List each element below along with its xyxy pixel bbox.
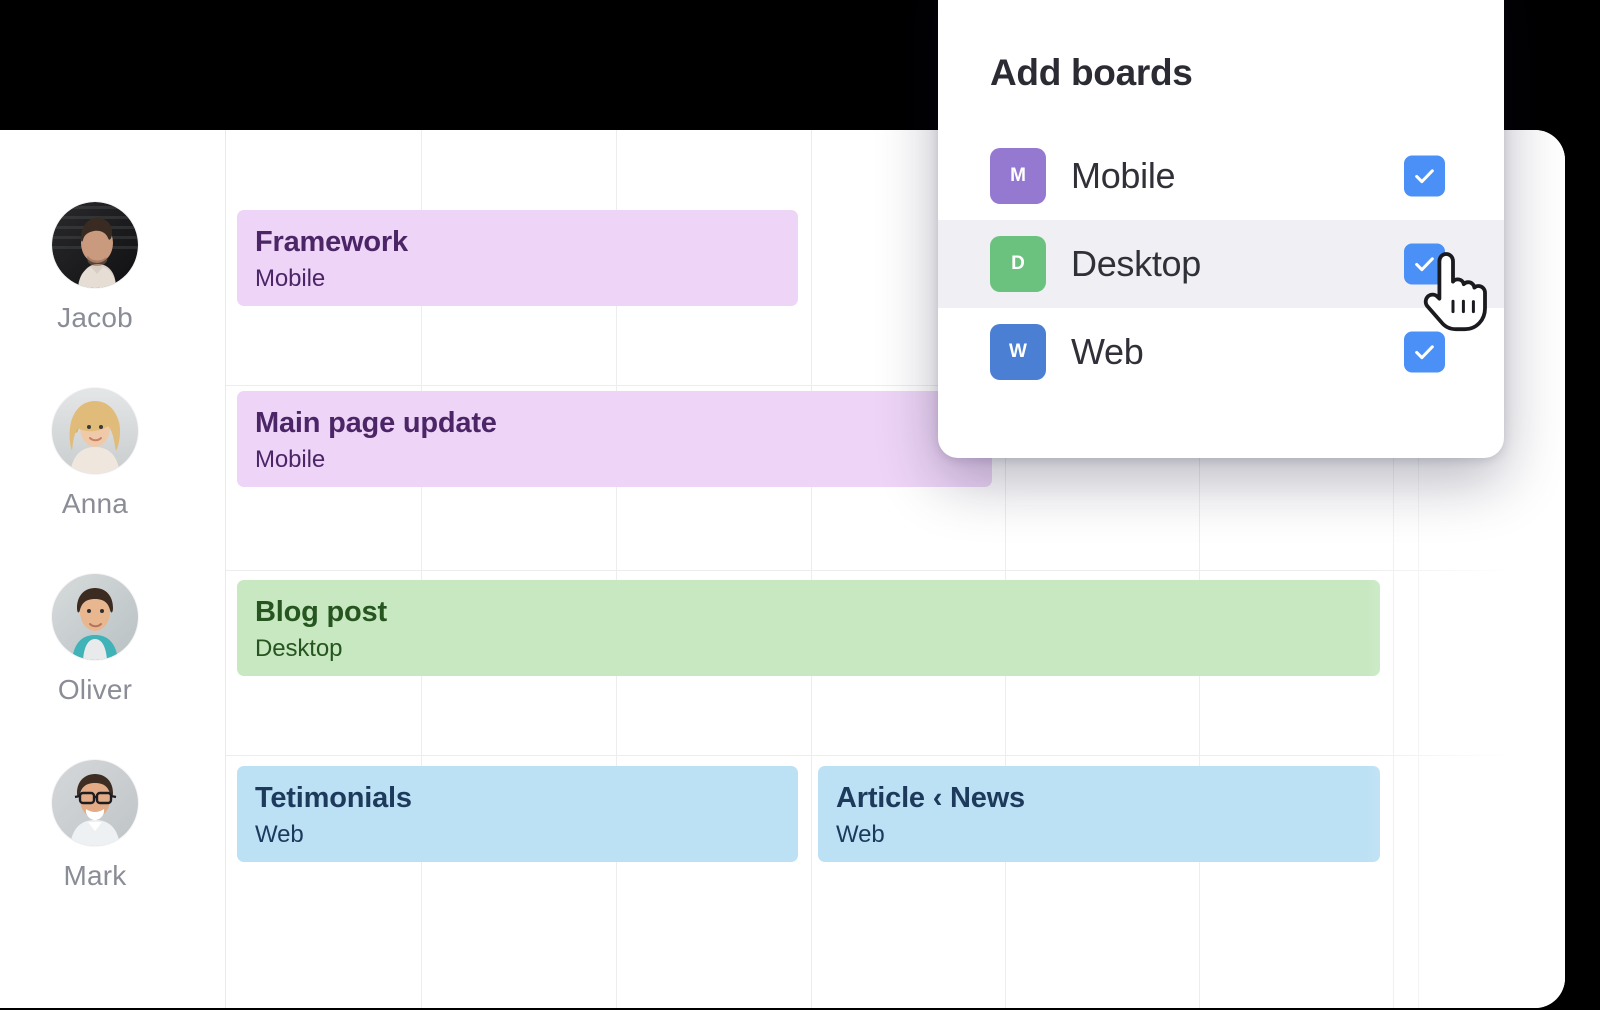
board-label: Desktop bbox=[1071, 243, 1201, 285]
grid-row-line bbox=[226, 570, 1565, 571]
board-initial: W bbox=[1009, 341, 1027, 363]
person-row-oliver[interactable]: Oliver bbox=[0, 574, 226, 706]
screen-root: Jacob bbox=[0, 0, 1600, 1010]
board-badge-icon: M bbox=[990, 148, 1046, 204]
task-title: Tetimonials bbox=[255, 783, 798, 813]
task-bar[interactable]: Article ‹ News Web bbox=[818, 766, 1380, 862]
board-label: Mobile bbox=[1071, 155, 1175, 197]
checkbox-mobile[interactable] bbox=[1404, 156, 1445, 197]
grid-column-line bbox=[811, 130, 812, 1008]
person-name: Jacob bbox=[57, 302, 133, 334]
avatar-photo-jacob bbox=[52, 202, 138, 288]
checkbox-web[interactable] bbox=[1404, 332, 1445, 373]
person-name: Mark bbox=[63, 860, 126, 892]
task-bar[interactable]: Blog post Desktop bbox=[237, 580, 1380, 676]
task-board-label: Mobile bbox=[255, 265, 798, 293]
task-title: Blog post bbox=[255, 597, 1380, 627]
check-icon bbox=[1412, 340, 1437, 365]
task-board-label: Desktop bbox=[255, 635, 1380, 663]
board-initial: M bbox=[1010, 165, 1026, 187]
task-board-label: Web bbox=[255, 821, 798, 849]
avatar-photo-mark bbox=[52, 760, 138, 846]
avatar-photo-anna bbox=[52, 388, 138, 474]
task-bar[interactable]: Framework Mobile bbox=[237, 210, 798, 306]
board-badge-icon: D bbox=[990, 236, 1046, 292]
task-bar[interactable]: Main page update Mobile bbox=[237, 391, 992, 487]
person-name: Anna bbox=[62, 488, 128, 520]
board-badge-icon: W bbox=[990, 324, 1046, 380]
person-name: Oliver bbox=[58, 674, 132, 706]
board-item-mobile[interactable]: M Mobile bbox=[938, 132, 1504, 220]
avatar-photo-oliver bbox=[52, 574, 138, 660]
grid-row-line bbox=[226, 755, 1565, 756]
popup-title: Add boards bbox=[990, 52, 1193, 94]
task-title: Main page update bbox=[255, 408, 992, 438]
check-icon bbox=[1412, 164, 1437, 189]
task-board-label: Web bbox=[836, 821, 1380, 849]
people-sidebar: Jacob bbox=[0, 130, 226, 1008]
board-label: Web bbox=[1071, 331, 1143, 373]
add-boards-popup: Add boards M Mobile D Desktop bbox=[938, 0, 1504, 458]
board-initial: D bbox=[1011, 253, 1025, 275]
task-title: Framework bbox=[255, 227, 798, 257]
pointer-hand-cursor bbox=[1415, 250, 1487, 337]
task-title: Article ‹ News bbox=[836, 783, 1380, 813]
task-board-label: Mobile bbox=[255, 446, 992, 474]
task-bar[interactable]: Tetimonials Web bbox=[237, 766, 798, 862]
person-row-mark[interactable]: Mark bbox=[0, 760, 226, 892]
person-row-jacob[interactable]: Jacob bbox=[0, 202, 226, 334]
person-row-anna[interactable]: Anna bbox=[0, 388, 226, 520]
